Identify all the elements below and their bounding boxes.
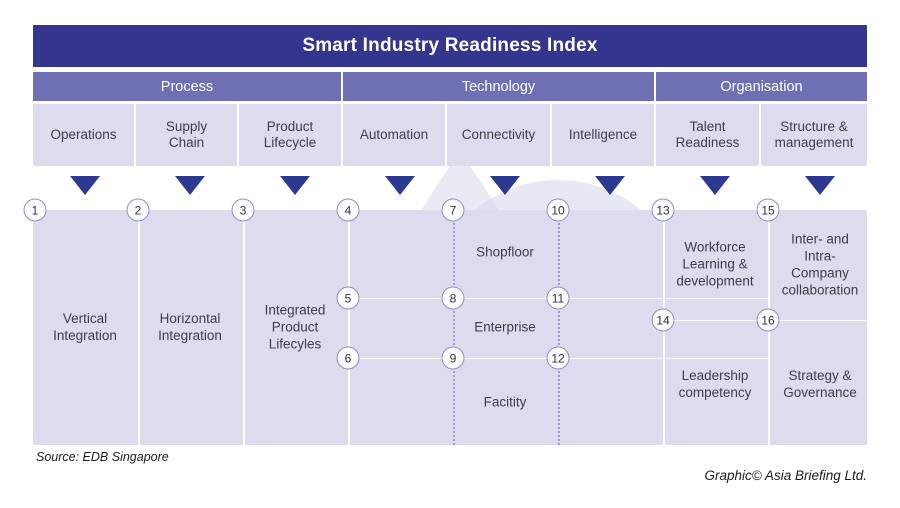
pillar-cell-label: HorizontalIntegration xyxy=(158,311,222,345)
page-title: Smart Industry Readiness Index xyxy=(302,35,597,57)
down-arrow-icon xyxy=(595,176,625,195)
dimension-number-badge: 6 xyxy=(337,347,360,370)
dimension-number-badge: 2 xyxy=(127,199,150,222)
dimension-number-badge: 7 xyxy=(442,199,465,222)
down-arrow-icon xyxy=(280,176,310,195)
pillar-cell-label: Facitity xyxy=(484,395,527,412)
down-arrow-icon xyxy=(70,176,100,195)
pillar-header-row: ProcessTechnologyOrganisation xyxy=(33,72,867,101)
column-divider xyxy=(348,210,350,445)
pillar-body-panel: VerticalIntegrationHorizontalIntegration… xyxy=(33,210,867,445)
down-arrow-icon xyxy=(700,176,730,195)
column-divider xyxy=(453,210,455,445)
dimension-number-badge: 10 xyxy=(547,199,570,222)
arrows-row xyxy=(33,176,867,196)
main-title-bar: Smart Industry Readiness Index xyxy=(33,25,867,67)
dimension-number-badge: 16 xyxy=(757,309,780,332)
down-arrow-icon xyxy=(175,176,205,195)
pillar-cell-label: Shopfloor xyxy=(476,245,534,262)
dimension-header-connectivity: Connectivity xyxy=(447,104,552,166)
pillar-header-organisation: Organisation xyxy=(656,72,867,101)
dimension-number-badge: 15 xyxy=(757,199,780,222)
pillar-cell-label: WorkforceLearning &development xyxy=(676,240,753,291)
dimension-number-badge: 12 xyxy=(547,347,570,370)
dimension-header-talent-readiness: TalentReadiness xyxy=(656,104,761,166)
credit-label: Graphic© Asia Briefing Ltd. xyxy=(704,468,867,483)
dimension-header-operations: Operations xyxy=(33,104,136,166)
column-divider xyxy=(243,210,245,445)
pillar-header-process: Process xyxy=(33,72,343,101)
pillar-cell-label: Strategy &Governance xyxy=(783,368,857,402)
dimension-number-badge: 14 xyxy=(652,309,675,332)
pillar-cell-label: Leadershipcompetency xyxy=(679,368,752,402)
dimension-number-badge: 5 xyxy=(337,287,360,310)
column-divider xyxy=(558,210,560,445)
column-divider xyxy=(138,210,140,445)
dimension-header-automation: Automation xyxy=(343,104,447,166)
pillar-header-technology: Technology xyxy=(343,72,656,101)
pillar-cell-label: Enterprise xyxy=(474,320,536,337)
source-label: Source: EDB Singapore xyxy=(36,450,169,464)
dimension-header-supply-chain: SupplyChain xyxy=(136,104,239,166)
down-arrow-icon xyxy=(805,176,835,195)
dimension-number-badge: 8 xyxy=(442,287,465,310)
dimension-header-product-lifecycle: ProductLifecycle xyxy=(239,104,343,166)
dimension-header-intelligence: Intelligence xyxy=(552,104,656,166)
dimension-number-badge: 11 xyxy=(547,287,570,310)
dimension-number-badge: 13 xyxy=(652,199,675,222)
dimension-number-badge: 4 xyxy=(337,199,360,222)
down-arrow-icon xyxy=(490,176,520,195)
dimension-number-badge: 9 xyxy=(442,347,465,370)
pillar-cell-label: IntegratedProductLifecyles xyxy=(265,303,326,354)
dimension-number-badge: 1 xyxy=(24,199,47,222)
smart-industry-readiness-index-infographic: Smart Industry Readiness Index ProcessTe… xyxy=(0,0,900,508)
pillar-cell-label: Inter- andIntra-Companycollaboration xyxy=(782,231,859,299)
dimension-header-row: OperationsSupplyChainProductLifecycleAut… xyxy=(33,104,867,166)
dimension-number-badge: 3 xyxy=(232,199,255,222)
pillar-cell-label: VerticalIntegration xyxy=(53,311,117,345)
down-arrow-icon xyxy=(385,176,415,195)
dimension-header-structure-management: Structure &management xyxy=(761,104,867,166)
